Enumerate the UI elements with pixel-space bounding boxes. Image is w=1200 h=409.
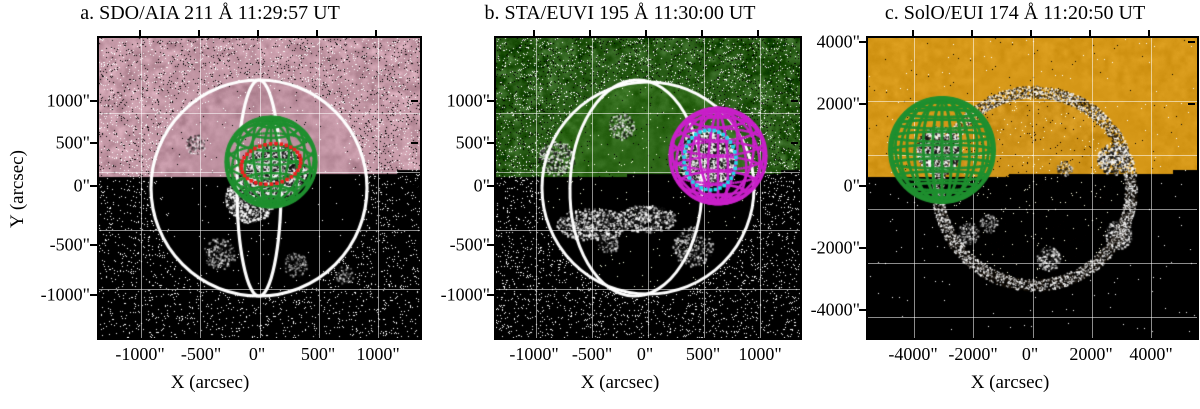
panel-b-xtick: -500"	[572, 344, 612, 365]
panel-b-plot-area	[494, 36, 802, 340]
tick	[90, 294, 97, 296]
panel-c-ytick: 0"	[844, 176, 860, 197]
tick	[90, 100, 97, 102]
panel-a-title: a. SDO/AIA 211 Å 11:29:57 UT	[0, 2, 420, 25]
tick	[487, 100, 494, 102]
tick	[487, 294, 494, 296]
tick	[533, 30, 535, 37]
panel-c-xtick: 4000"	[1129, 344, 1172, 365]
panel-b-xaxis-label: X (arcsec)	[420, 372, 820, 394]
panel-a-overlays	[99, 38, 420, 338]
tick	[139, 330, 141, 337]
tick	[971, 330, 973, 337]
tick	[487, 142, 494, 144]
panel-b-ytick: -500"	[450, 235, 490, 256]
tick	[1030, 330, 1032, 337]
panel-c-ytick: -4000"	[811, 300, 860, 321]
panel-c-xaxis-label: X (arcsec)	[820, 372, 1200, 394]
tick	[411, 142, 418, 144]
tick	[139, 30, 141, 37]
panel-a-plot-area	[97, 36, 422, 340]
tick	[90, 142, 97, 144]
tick	[90, 244, 97, 246]
panel-c-xtick: 2000"	[1069, 344, 1112, 365]
tick	[375, 330, 377, 337]
panel-c-xtick: 0"	[1022, 344, 1038, 365]
panel-b-xtick: 500"	[686, 344, 720, 365]
panel-a-ytick: 1000"	[47, 91, 90, 112]
tick	[411, 100, 418, 102]
tick	[791, 244, 798, 246]
tick	[589, 30, 591, 37]
tick	[375, 30, 377, 37]
panel-c: c. SolO/EUI 174 Å 11:20:50 UT 4000" 2000…	[820, 0, 1200, 409]
panel-b: b. STA/EUVI 195 Å 11:30:00 UT 1000" 500"…	[420, 0, 820, 409]
tick	[912, 330, 914, 337]
tick	[198, 330, 200, 337]
panel-a-xtick: -500"	[181, 344, 221, 365]
tick	[1148, 330, 1150, 337]
panel-b-xtick: -1000"	[509, 344, 558, 365]
panel-b-xtick: 1000"	[738, 344, 781, 365]
panel-c-ytick: 2000"	[817, 94, 860, 115]
panel-c-overlays	[868, 38, 1197, 338]
tick	[1089, 330, 1091, 337]
panel-b-xtick: 0"	[637, 344, 653, 365]
solar-figure: a. SDO/AIA 211 Å 11:29:57 UT 1000" 500" …	[0, 0, 1200, 409]
panel-c-plot-area	[866, 36, 1199, 340]
tick	[645, 30, 647, 37]
tick	[1188, 185, 1195, 187]
tick	[533, 330, 535, 337]
tick	[1089, 30, 1091, 37]
panel-b-ytick: -1000"	[441, 285, 490, 306]
panel-a-xtick: 1000"	[356, 344, 399, 365]
panel-a-ytick: -500"	[50, 235, 90, 256]
panel-a-yaxis-label: Y (arcsec)	[7, 129, 29, 249]
panel-b-title: b. STA/EUVI 195 Å 11:30:00 UT	[420, 2, 820, 25]
panel-c-xtick: -2000"	[948, 344, 997, 365]
tick	[1030, 30, 1032, 37]
tick	[411, 294, 418, 296]
tick	[90, 185, 97, 187]
panel-a: a. SDO/AIA 211 Å 11:29:57 UT 1000" 500" …	[0, 0, 420, 409]
tick	[791, 185, 798, 187]
tick	[791, 294, 798, 296]
tick	[316, 330, 318, 337]
tick	[487, 185, 494, 187]
tick	[316, 30, 318, 37]
panel-b-ytick: 1000"	[447, 91, 490, 112]
tick	[791, 142, 798, 144]
tick	[257, 330, 259, 337]
tick	[198, 30, 200, 37]
tick	[701, 330, 703, 337]
panel-a-xtick: -1000"	[115, 344, 164, 365]
tick	[859, 185, 866, 187]
tick	[701, 30, 703, 37]
panel-b-overlays	[496, 38, 800, 338]
panel-a-xtick: 0"	[249, 344, 265, 365]
tick	[757, 30, 759, 37]
panel-a-ytick: -1000"	[41, 285, 90, 306]
panel-a-ytick: 0"	[74, 176, 90, 197]
panel-c-ytick: 4000"	[817, 32, 860, 53]
tick	[859, 41, 866, 43]
tick	[971, 30, 973, 37]
panel-c-title: c. SolO/EUI 174 Å 11:20:50 UT	[830, 2, 1200, 25]
panel-c-xtick: -4000"	[888, 344, 937, 365]
tick	[589, 330, 591, 337]
tick	[1148, 30, 1150, 37]
tick	[757, 330, 759, 337]
tick	[645, 330, 647, 337]
tick	[859, 247, 866, 249]
tick	[859, 309, 866, 311]
panel-a-xaxis-label: X (arcsec)	[0, 372, 420, 394]
tick	[411, 244, 418, 246]
panel-b-ytick: 500"	[456, 133, 490, 154]
tick	[791, 100, 798, 102]
tick	[257, 30, 259, 37]
panel-a-ytick: 500"	[56, 133, 90, 154]
tick	[859, 103, 866, 105]
tick	[487, 244, 494, 246]
panel-c-ytick: -2000"	[811, 238, 860, 259]
tick	[912, 30, 914, 37]
tick	[1188, 309, 1195, 311]
tick	[1188, 247, 1195, 249]
tick	[1188, 103, 1195, 105]
tick	[1188, 41, 1195, 43]
tick	[411, 185, 418, 187]
panel-a-xtick: 500"	[301, 344, 335, 365]
